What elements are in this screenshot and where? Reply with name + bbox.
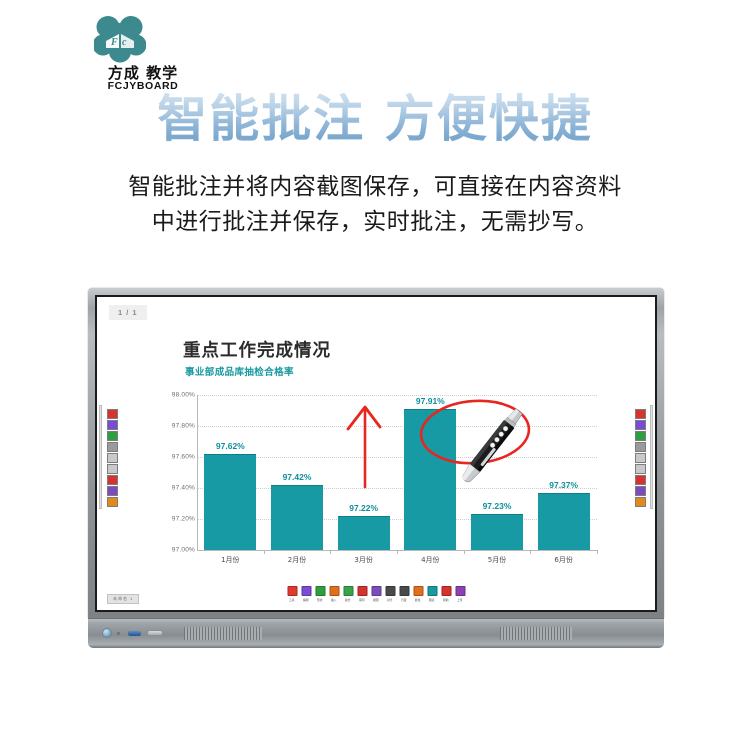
slide-canvas[interactable]: 重点工作完成情况 事业部成品库抽检合格率 97.00%97.20%97.40%9… bbox=[97, 297, 655, 610]
save-tool-icon[interactable] bbox=[107, 497, 118, 507]
undo-tool-icon[interactable] bbox=[107, 453, 118, 463]
line-spacing-tool-button[interactable]: 行距 bbox=[399, 586, 410, 602]
page-headline: 智能批注 方便快捷 bbox=[0, 93, 750, 146]
y-axis-tick-label: 97.00% bbox=[151, 547, 195, 554]
pen-tool-icon[interactable] bbox=[635, 409, 646, 419]
chart-tool-label: 图表 bbox=[429, 597, 435, 602]
write-tool-label: 工具 bbox=[289, 597, 295, 602]
bar-rect bbox=[204, 454, 256, 550]
view-tool-button[interactable]: 视图 bbox=[371, 586, 382, 602]
y-axis-tick-label: 97.20% bbox=[151, 516, 195, 523]
edit-tool-icon bbox=[301, 586, 311, 596]
redo-tool-icon[interactable] bbox=[107, 464, 118, 474]
x-axis-tick bbox=[530, 550, 531, 554]
page-subtitle: 智能批注并将内容截图保存，可直接在内容资料 中进行批注并保存，实时批注，无需抄写… bbox=[0, 170, 750, 240]
color-fill-tool-label: 颜色 bbox=[415, 597, 421, 602]
bar-rect bbox=[338, 516, 390, 550]
shape-tool-button[interactable]: 形状 bbox=[315, 586, 326, 602]
left-toolbar[interactable] bbox=[105, 409, 119, 507]
x-axis-tick-label: 6月份 bbox=[538, 555, 590, 565]
chart-tool-icon bbox=[427, 586, 437, 596]
bottom-toolbar[interactable]: 工具编辑形状插入版式审阅视图对齐行距颜色图表帮助上传 bbox=[287, 586, 466, 602]
insert-tool-label: 插入 bbox=[331, 597, 337, 602]
view-tool-label: 视图 bbox=[373, 597, 379, 602]
x-axis-tick bbox=[330, 550, 331, 554]
shape-tool-icon bbox=[315, 586, 325, 596]
y-axis-tick-label: 98.00% bbox=[151, 392, 195, 399]
display-screen[interactable]: 1 / 1 重点工作完成情况 事业部成品库抽检合格率 97.00%97.20%9… bbox=[95, 295, 657, 612]
highlighter-tool-icon[interactable] bbox=[107, 420, 118, 430]
chart-tool-button[interactable]: 图表 bbox=[427, 586, 438, 602]
align-left-tool-label: 对齐 bbox=[387, 597, 393, 602]
bar-rect bbox=[271, 485, 323, 550]
status-led bbox=[117, 632, 120, 635]
right-toolbar[interactable] bbox=[633, 409, 647, 507]
chart-subtitle: 事业部成品库抽检合格率 bbox=[185, 364, 294, 378]
bar-value-label: 97.22% bbox=[349, 503, 378, 513]
bar-value-label: 97.91% bbox=[416, 396, 445, 406]
indicator-blue bbox=[128, 631, 141, 636]
select-tool-icon[interactable] bbox=[635, 486, 646, 496]
bar-value-label: 97.62% bbox=[216, 441, 245, 451]
bar-value-label: 97.37% bbox=[549, 480, 578, 490]
edit-tool-label: 编辑 bbox=[303, 597, 309, 602]
svg-text:F: F bbox=[110, 37, 118, 48]
chart-bar: 97.42% bbox=[271, 485, 323, 550]
delete-tool-icon[interactable] bbox=[107, 475, 118, 485]
svg-text:c: c bbox=[122, 37, 127, 48]
power-button[interactable] bbox=[102, 628, 112, 638]
help-tool-icon bbox=[441, 586, 451, 596]
x-axis-tick bbox=[597, 550, 598, 554]
delete-tool-icon[interactable] bbox=[635, 475, 646, 485]
right-toolbar-rail bbox=[650, 405, 653, 509]
align-left-tool-icon bbox=[385, 586, 395, 596]
review-tool-icon bbox=[357, 586, 367, 596]
review-tool-button[interactable]: 审阅 bbox=[357, 586, 368, 602]
upload-tool-label: 上传 bbox=[457, 597, 463, 602]
line-spacing-tool-icon bbox=[399, 586, 409, 596]
chart-bar: 97.23% bbox=[471, 514, 523, 550]
bar-rect bbox=[471, 514, 523, 550]
bar-rect bbox=[538, 493, 590, 550]
write-tool-icon bbox=[287, 586, 297, 596]
bar-value-label: 97.23% bbox=[483, 501, 512, 511]
layout-tool-icon bbox=[343, 586, 353, 596]
document-name-tab[interactable]: 未命名 1 bbox=[107, 594, 139, 604]
highlighter-tool-icon[interactable] bbox=[635, 420, 646, 430]
x-axis-tick-label: 4月份 bbox=[404, 555, 456, 565]
display-bezel: 1 / 1 重点工作完成情况 事业部成品库抽检合格率 97.00%97.20%9… bbox=[88, 288, 664, 618]
select-tool-icon[interactable] bbox=[107, 486, 118, 496]
stylus-pen-icon bbox=[449, 400, 535, 492]
eraser-tool-icon[interactable] bbox=[107, 442, 118, 452]
review-tool-label: 审阅 bbox=[359, 597, 365, 602]
y-axis-tick-label: 97.40% bbox=[151, 485, 195, 492]
redo-tool-icon[interactable] bbox=[635, 464, 646, 474]
y-axis-tick-label: 97.60% bbox=[151, 454, 195, 461]
bar-value-label: 97.42% bbox=[283, 472, 312, 482]
speaker-grille-right bbox=[500, 627, 572, 640]
y-axis-tick-label: 97.80% bbox=[151, 423, 195, 430]
write-tool-button[interactable]: 工具 bbox=[287, 586, 298, 602]
help-tool-button[interactable]: 帮助 bbox=[441, 586, 452, 602]
chart-bar: 97.62% bbox=[204, 454, 256, 550]
chart-bar: 97.37% bbox=[538, 493, 590, 550]
color-palette-tool-icon[interactable] bbox=[635, 431, 646, 441]
left-toolbar-rail bbox=[99, 405, 102, 509]
chart-title: 重点工作完成情况 bbox=[183, 337, 331, 362]
edit-tool-button[interactable]: 编辑 bbox=[301, 586, 312, 602]
brand-logo: F c 方成 教学 FCJYBOARD bbox=[78, 14, 208, 84]
x-axis-tick-label: 2月份 bbox=[271, 555, 323, 565]
x-axis-tick-label: 5月份 bbox=[471, 555, 523, 565]
upload-tool-icon bbox=[455, 586, 465, 596]
interactive-whiteboard: 1 / 1 重点工作完成情况 事业部成品库抽检合格率 97.00%97.20%9… bbox=[88, 288, 664, 648]
line-spacing-tool-label: 行距 bbox=[401, 597, 407, 602]
bar-chart: 97.00%97.20%97.40%97.60%97.80%98.00% 97.… bbox=[197, 395, 597, 575]
x-axis-tick-label: 1月份 bbox=[204, 555, 256, 565]
speaker-grille-left bbox=[184, 627, 262, 640]
flower-book-logo-icon: F c bbox=[94, 14, 146, 64]
help-tool-label: 帮助 bbox=[443, 597, 449, 602]
insert-tool-icon bbox=[329, 586, 339, 596]
x-axis-tick bbox=[397, 550, 398, 554]
color-palette-tool-icon[interactable] bbox=[107, 431, 118, 441]
device-chin bbox=[88, 618, 664, 648]
pen-tool-icon[interactable] bbox=[107, 409, 118, 419]
x-axis-tick-label: 3月份 bbox=[338, 555, 390, 565]
align-left-tool-button[interactable]: 对齐 bbox=[385, 586, 396, 602]
undo-tool-icon[interactable] bbox=[635, 453, 646, 463]
subtitle-line-2: 中进行批注并保存，实时批注，无需抄写。 bbox=[0, 205, 750, 240]
x-axis-tick bbox=[464, 550, 465, 554]
indicator-gray bbox=[147, 630, 163, 636]
layout-tool-button[interactable]: 版式 bbox=[343, 586, 354, 602]
insert-tool-button[interactable]: 插入 bbox=[329, 586, 340, 602]
save-tool-icon[interactable] bbox=[635, 497, 646, 507]
shape-tool-label: 形状 bbox=[317, 597, 323, 602]
color-fill-tool-button[interactable]: 颜色 bbox=[413, 586, 424, 602]
view-tool-icon bbox=[371, 586, 381, 596]
chart-bars: 97.62%97.42%97.22%97.91%97.23%97.37% bbox=[197, 395, 597, 550]
upload-tool-button[interactable]: 上传 bbox=[455, 586, 466, 602]
y-axis-labels: 97.00%97.20%97.40%97.60%97.80%98.00% bbox=[151, 395, 195, 550]
color-fill-tool-icon bbox=[413, 586, 423, 596]
x-axis-labels: 1月份2月份3月份4月份5月份6月份 bbox=[197, 555, 597, 573]
eraser-tool-icon[interactable] bbox=[635, 442, 646, 452]
layout-tool-label: 版式 bbox=[345, 597, 351, 602]
x-axis-tick bbox=[264, 550, 265, 554]
chart-bar: 97.22% bbox=[338, 516, 390, 550]
subtitle-line-1: 智能批注并将内容截图保存，可直接在内容资料 bbox=[0, 170, 750, 205]
